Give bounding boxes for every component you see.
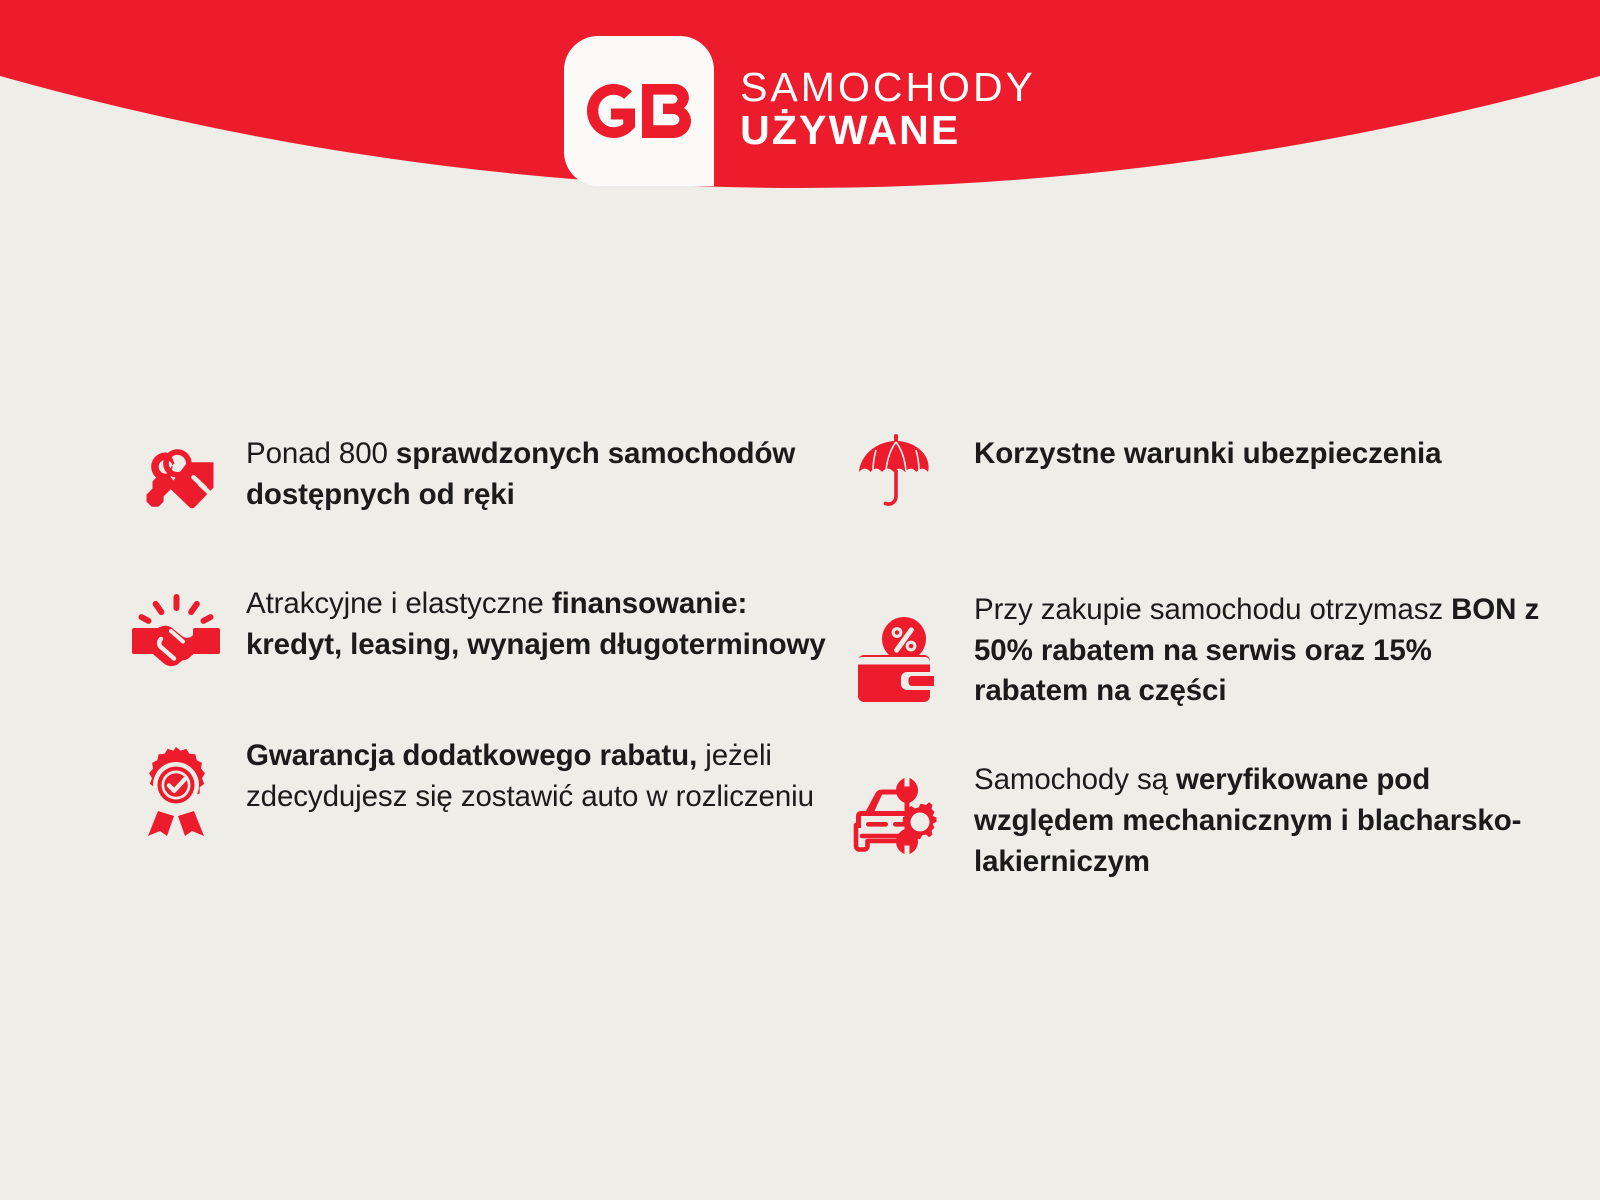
brand-wordmark: SAMOCHODY UŻYWANE — [740, 66, 1036, 157]
brand-line-2: UŻYWANE — [740, 109, 1036, 152]
handshake-icon — [128, 586, 224, 682]
feature-item: Ponad 800 sprawdzonych samochodów dostęp… — [128, 430, 828, 534]
feature-text-part: Samochody są — [974, 763, 1176, 796]
feature-text: Atrakcyjne i elastyczne finansowanie: kr… — [246, 580, 828, 665]
gb-logo-mark — [564, 36, 714, 186]
car-wrench-gear-icon — [848, 768, 944, 864]
features-grid: Ponad 800 sprawdzonych samochodów dostęp… — [0, 430, 1600, 882]
feature-text: Przy zakupie samochodu otrzymasz BON z 5… — [974, 586, 1548, 712]
feature-text-part: Przy zakupie samochodu otrzymasz — [974, 593, 1451, 626]
feature-text: Korzystne warunki ubezpieczenia — [974, 430, 1441, 475]
feature-text: Samochody są weryfikowane pod względem m… — [974, 756, 1548, 882]
features-column-right: Korzystne warunki ubezpieczenia — [848, 430, 1548, 882]
feature-item: Gwarancja dodatkowego rabatu, jeżeli zde… — [128, 732, 828, 838]
wallet-percent-icon — [848, 612, 944, 708]
key-tag-icon — [128, 438, 224, 534]
feature-item: Przy zakupie samochodu otrzymasz BON z 5… — [848, 586, 1548, 712]
feature-text-part-bold: Gwarancja dodatkowego rabatu, — [246, 739, 705, 772]
feature-text-part-bold: Korzystne warunki ubezpieczenia — [974, 437, 1441, 470]
feature-text-part: Atrakcyjne i elastyczne — [246, 587, 552, 620]
umbrella-icon — [848, 422, 944, 518]
feature-item: Samochody są weryfikowane pod względem m… — [848, 756, 1548, 882]
feature-text: Ponad 800 sprawdzonych samochodów dostęp… — [246, 430, 828, 515]
feature-text-part: Ponad 800 — [246, 437, 396, 470]
feature-text: Gwarancja dodatkowego rabatu, jeżeli zde… — [246, 732, 828, 817]
gb-monogram-icon — [587, 84, 691, 138]
header-banner: SAMOCHODY UŻYWANE — [0, 0, 1600, 260]
feature-item: Korzystne warunki ubezpieczenia — [848, 430, 1548, 518]
feature-item: Atrakcyjne i elastyczne finansowanie: kr… — [128, 580, 828, 682]
brand-line-1: SAMOCHODY — [740, 66, 1036, 109]
features-column-left: Ponad 800 sprawdzonych samochodów dostęp… — [128, 430, 828, 882]
brand-logo: SAMOCHODY UŻYWANE — [0, 36, 1600, 186]
rosette-check-icon — [128, 742, 224, 838]
